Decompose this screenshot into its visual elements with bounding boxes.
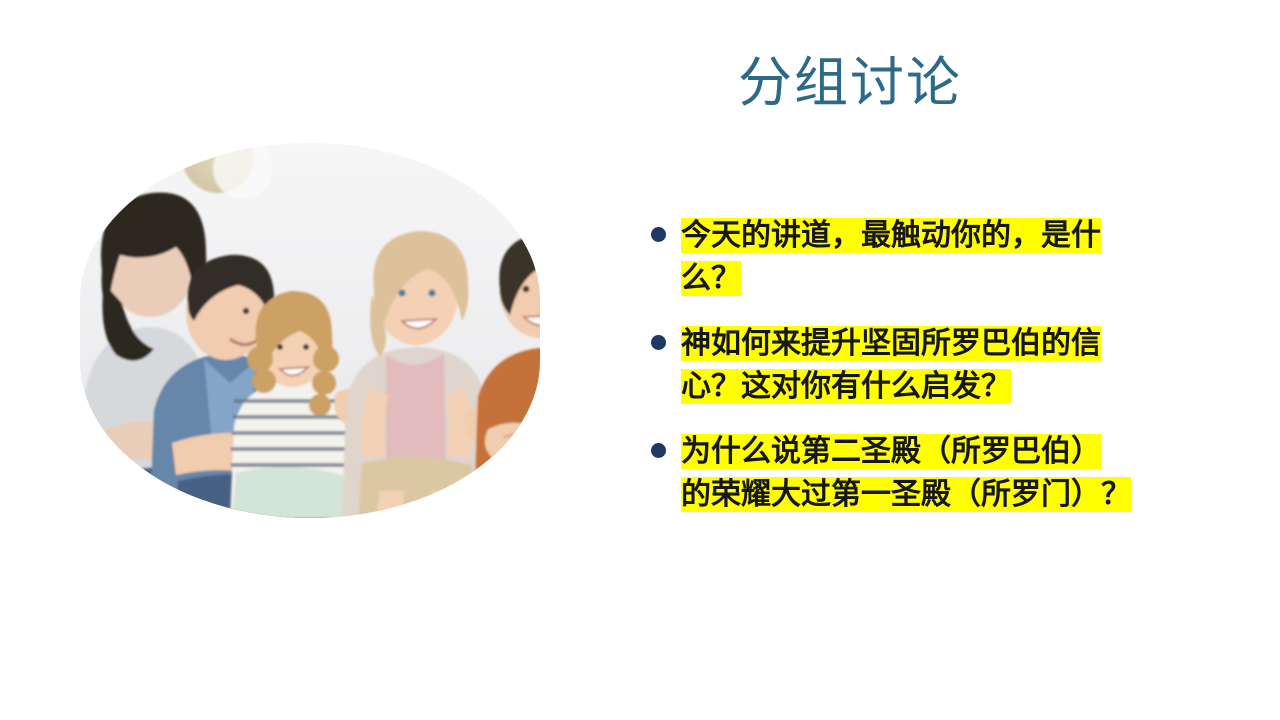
group-discussion-photo	[80, 143, 540, 518]
highlighted-line: 么？	[681, 261, 741, 296]
list-item: 今天的讲道，最触动你的，是什么？	[648, 214, 1218, 300]
question-text-2: 神如何来提升坚固所罗巴伯的信心？这对你有什么启发？	[681, 322, 1218, 408]
highlighted-line: 的荣耀大过第一圣殿（所罗门）？	[681, 477, 1131, 512]
bullet-dot-icon	[651, 335, 666, 350]
list-item: 神如何来提升坚固所罗巴伯的信心？这对你有什么启发？	[648, 322, 1218, 408]
photo-illustration	[80, 143, 540, 518]
highlighted-line: 心？这对你有什么启发？	[681, 369, 1011, 404]
question-text-3: 为什么说第二圣殿（所罗巴伯）的荣耀大过第一圣殿（所罗门）？	[681, 430, 1218, 516]
highlighted-line: 为什么说第二圣殿（所罗巴伯）	[681, 434, 1101, 469]
bullet-dot-icon	[651, 443, 666, 458]
question-text-1: 今天的讲道，最触动你的，是什么？	[681, 214, 1218, 300]
highlighted-line: 神如何来提升坚固所罗巴伯的信	[681, 326, 1101, 361]
highlighted-line: 今天的讲道，最触动你的，是什	[681, 218, 1101, 253]
list-item: 为什么说第二圣殿（所罗巴伯）的荣耀大过第一圣殿（所罗门）？	[648, 430, 1218, 516]
discussion-question-list: 今天的讲道，最触动你的，是什么？ 神如何来提升坚固所罗巴伯的信心？这对你有什么启…	[648, 214, 1218, 516]
bullet-dot-icon	[651, 227, 666, 242]
presentation-slide: 分组讨论	[0, 0, 1280, 720]
slide-title: 分组讨论	[610, 52, 1090, 114]
